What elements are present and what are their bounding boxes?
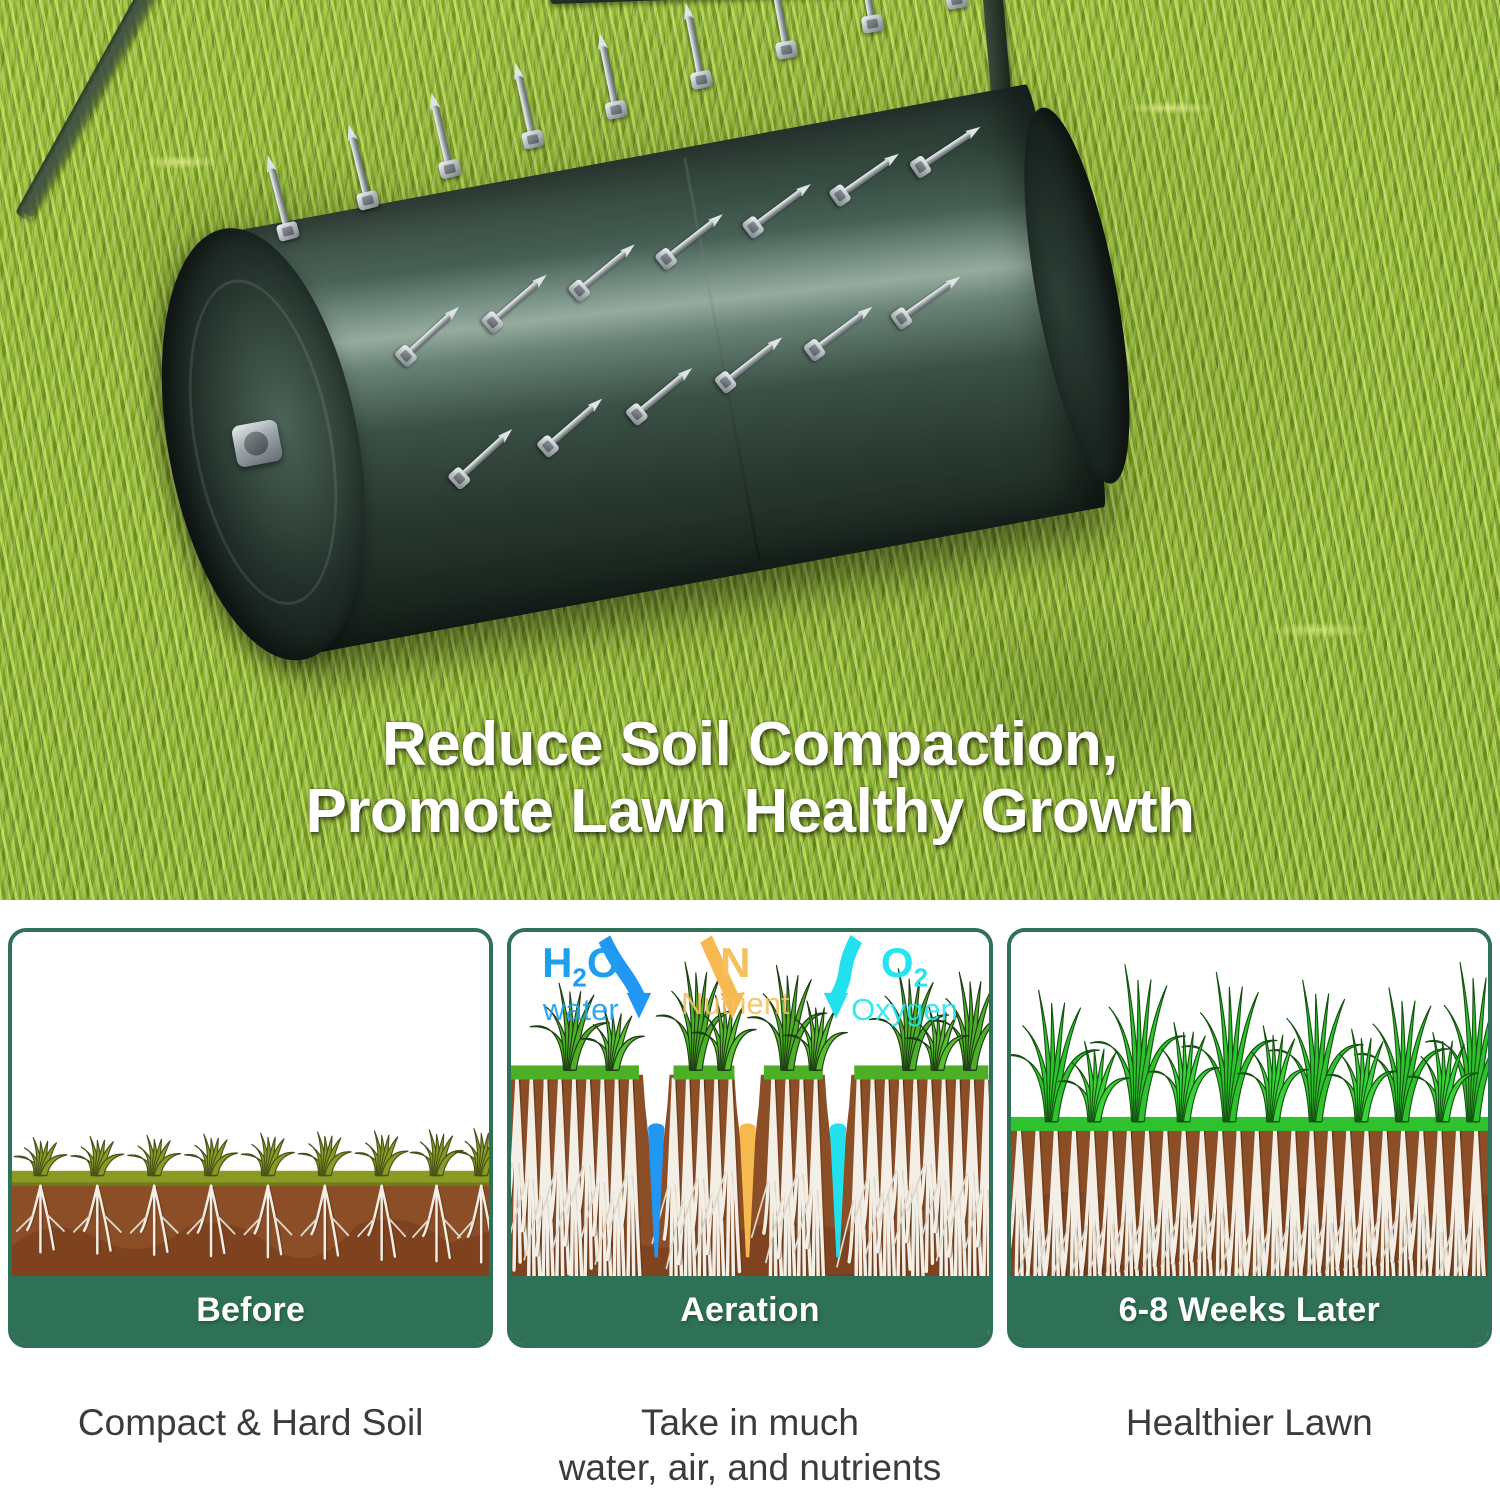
panel-before-caption-bar: Before	[12, 1276, 489, 1344]
gas-symbol-nutrient: N	[681, 942, 790, 984]
grass-tufts-before	[14, 1129, 489, 1176]
hero-headline: Reduce Soil Compaction, Promote Lawn Hea…	[0, 712, 1500, 846]
gas-name-oxygen: Oxygen	[851, 994, 958, 1025]
panel-before: Before	[8, 928, 493, 1348]
subcaption-aeration: Take in much water, air, and nutrients	[507, 1400, 992, 1500]
subcaption-before: Compact & Hard Soil	[8, 1400, 493, 1500]
subcaption-after: Healthier Lawn	[1007, 1400, 1492, 1500]
panel-subcaptions: Compact & Hard Soil Take in much water, …	[0, 1400, 1500, 1500]
panel-before-caption: Before	[196, 1291, 305, 1330]
comparison-panels: Before H2O water	[0, 928, 1500, 1348]
headline-line-2: Promote Lawn Healthy Growth	[0, 779, 1500, 846]
panel-aeration: H2O water N Nutrient O2 Oxygen Aeration	[507, 928, 992, 1348]
gas-name-nutrient: Nutrient	[681, 988, 790, 1019]
gas-symbol-water: H2O	[542, 942, 619, 990]
gas-symbol-oxygen: O2	[851, 942, 958, 990]
subcaption-aeration-line-2: water, air, and nutrients	[507, 1445, 992, 1490]
grass-tufts-after	[1011, 962, 1488, 1121]
hero-product-photo: Reduce Soil Compaction, Promote Lawn Hea…	[0, 0, 1500, 900]
turf-line-after	[1011, 1117, 1488, 1131]
roller-drum	[131, 77, 1143, 673]
aerator-roller-assembly	[120, 0, 1180, 680]
axle-hub-nut	[231, 419, 284, 469]
product-infographic: Reduce Soil Compaction, Promote Lawn Hea…	[0, 0, 1500, 1500]
panel-after-caption-bar: 6-8 Weeks Later	[1011, 1276, 1488, 1344]
gas-label-water: H2O water	[542, 942, 619, 1025]
headline-line-1: Reduce Soil Compaction,	[382, 710, 1118, 779]
subcaption-aeration-line-1: Take in much	[507, 1400, 992, 1445]
gas-label-row: H2O water N Nutrient O2 Oxygen	[511, 942, 988, 1032]
gas-label-oxygen: O2 Oxygen	[851, 942, 958, 1025]
panel-aeration-caption-bar: Aeration	[511, 1276, 988, 1344]
panel-after: 6-8 Weeks Later	[1007, 928, 1492, 1348]
gas-label-nutrient: N Nutrient	[681, 942, 790, 1019]
panel-aeration-caption: Aeration	[680, 1291, 820, 1330]
gas-name-water: water	[542, 994, 619, 1025]
panel-after-caption: 6-8 Weeks Later	[1119, 1291, 1380, 1330]
